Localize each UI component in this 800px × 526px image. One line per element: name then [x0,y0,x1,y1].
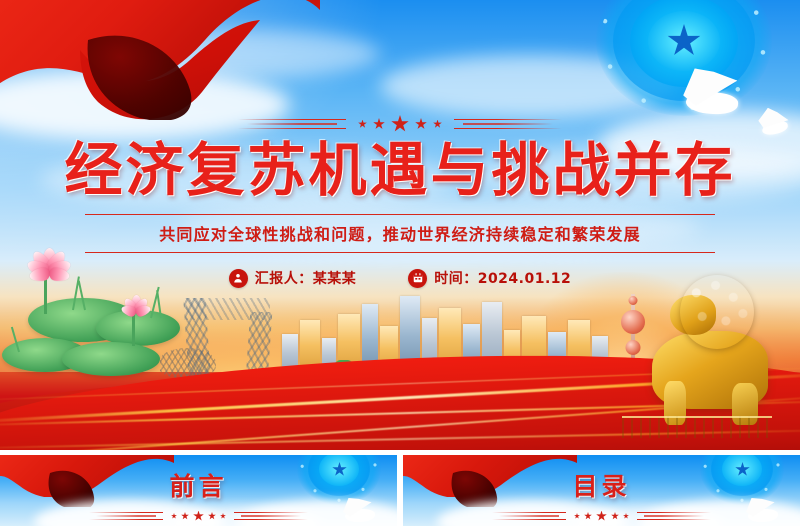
slide-canvas: 经济复苏机遇与挑战并存 共同应对全球性挑战和问题，推动世界经济持续稳定和繁荣发展… [0,0,800,526]
panel-star-decoration [0,509,397,523]
star-icon [193,511,204,522]
star-icon [611,512,619,520]
sidebar-item-contents[interactable]: 目录 [403,455,800,526]
star-icon [171,513,177,519]
subtitle-container: 共同应对全球性挑战和问题，推动世界经济持续稳定和繁荣发展 [85,214,715,253]
star-icon [208,512,216,520]
star-icon [433,120,442,129]
section-panel-row: 前言 [0,455,800,526]
star-icon [584,512,592,520]
star-icon [574,513,580,519]
panel-label: 前言 [0,467,397,503]
lion-mane [680,275,754,349]
decoration-stars [346,115,454,133]
decoration-rule-right [637,512,711,520]
star-icon [358,120,367,129]
star-icon [415,118,427,130]
title-star-decoration [0,112,800,136]
lotus-bloom [116,298,156,326]
main-banner: 经济复苏机遇与挑战并存 共同应对全球性挑战和问题，推动世界经济持续稳定和繁荣发展… [0,0,800,450]
star-icon [373,118,385,130]
tower-top [186,298,270,320]
decoration-rule-left [492,512,566,520]
lotus-bloom [20,252,78,292]
decoration-rule-right [454,119,562,130]
star-icon [596,511,607,522]
page-title: 经济复苏机遇与挑战并存 [0,140,800,201]
panel-star-decoration [403,509,800,523]
decoration-rule-right [234,512,308,520]
guardian-lion-statue [622,273,772,438]
lion-pedestal [622,416,772,438]
blue-radial-burst-icon [596,0,772,116]
star-icon [220,513,226,519]
decoration-stars [566,511,637,522]
decoration-rule-left [89,512,163,520]
decoration-stars [163,511,234,522]
star-icon [391,115,409,133]
page-subtitle: 共同应对全球性挑战和问题，推动世界经济持续稳定和繁荣发展 [85,221,715,245]
star-icon [181,512,189,520]
decoration-rule-left [238,119,346,130]
star-icon [623,513,629,519]
panel-label: 目录 [403,467,800,503]
sidebar-item-preface[interactable]: 前言 [0,455,397,526]
